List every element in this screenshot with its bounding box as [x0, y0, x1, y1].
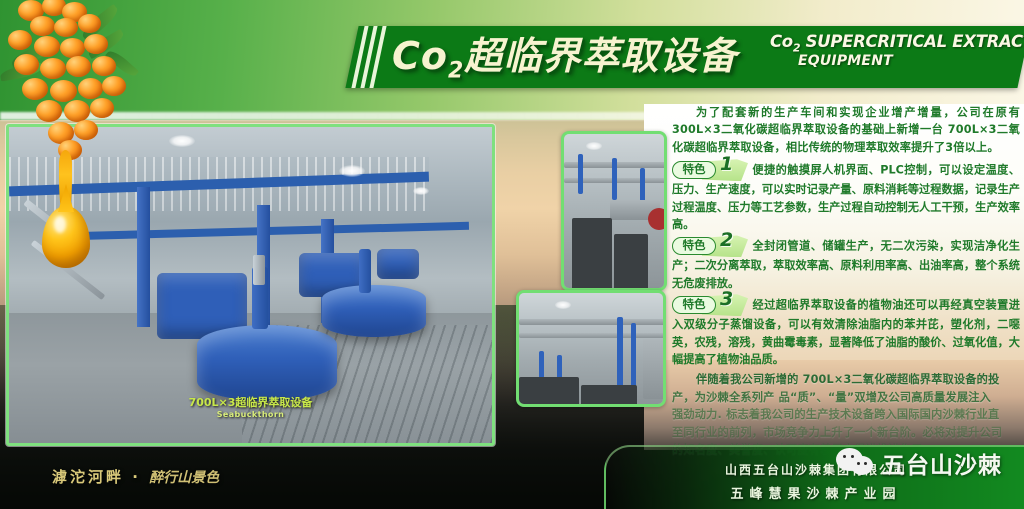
feature-badge-label-3: 特色	[672, 296, 716, 314]
title-en-main: SUPERCRITICAL EXTRACTION	[806, 32, 1024, 51]
text-column: 为了配套新的生产车间和实现企业增产增量，公司在原有300L×3二氧化碳超临界萃取…	[672, 104, 1020, 459]
feature-item-2: 特色 2 全封闭管道、储罐生产，无二次污染，实现洁净化生产；二次分离萃取，萃取效…	[672, 236, 1020, 292]
feature-badge-2: 特色 2	[672, 236, 748, 257]
closing-line-4: 至同行业的前列，市场竞争力上升了一个新台阶。必将对提升公司	[672, 424, 1020, 441]
title-co-subscript: 2	[448, 59, 464, 84]
slogan-calligraphy: 醉行山景色	[149, 470, 219, 486]
feature-number-1: 1	[720, 156, 733, 173]
seabuckthorn-berries-decoration	[0, 0, 160, 180]
feature-badge-3: 特色 3	[672, 295, 748, 316]
title-co-prefix: Co	[392, 34, 448, 78]
wechat-account-name: 五台山沙棘	[882, 446, 1002, 480]
wechat-icon	[836, 446, 876, 480]
poster-root: Co2超临界萃取设备 Co2 SUPERCRITICAL EXTRACTION …	[0, 0, 1024, 509]
closing-line-3: 强劲动力. 标志着我公司的生产技术设备跨入国际国内沙棘行业直	[672, 406, 1020, 423]
feature-number-2: 2	[720, 232, 733, 249]
page-title-chinese: Co2超临界萃取设备	[392, 30, 737, 98]
closing-line-2: 产，为沙棘全系列产 品“质”、“量”双增及公司高质量发展注入	[672, 389, 1020, 406]
slogan-separator: ·	[132, 468, 141, 486]
title-en-line1: Co2 SUPERCRITICAL EXTRACTION	[770, 34, 1020, 54]
photo-caption: 700L×3超临界萃取设备 Seabuckthorn	[189, 394, 313, 419]
feature-badge-label-1: 特色	[672, 161, 716, 179]
intro-paragraph: 为了配套新的生产车间和实现企业增产增量，公司在原有300L×3二氧化碳超临界萃取…	[672, 104, 1020, 156]
feature-badge-1: 特色 1	[672, 160, 748, 181]
photo-caption-line1: 700L×3超临界萃取设备	[189, 394, 313, 410]
equipment-photo-bottom	[516, 290, 666, 407]
title-chinese-text: 超临界萃取设备	[464, 34, 737, 78]
photo-caption-line2: Seabuckthorn	[189, 410, 313, 419]
feature-item-1: 特色 1 便捷的触摸屏人机界面、PLC控制，可以设定温度、压力、生产速度，可以实…	[672, 160, 1020, 233]
brand-park-name: 五峰慧果沙棘产业园	[616, 483, 1016, 502]
title-en-co: Co	[770, 32, 793, 51]
feature-badge-label-2: 特色	[672, 237, 716, 255]
slogan-text: 滹沱河畔	[52, 468, 124, 486]
page-title-english: Co2 SUPERCRITICAL EXTRACTION EQUIPMENT	[770, 34, 1020, 68]
feature-number-3: 3	[720, 291, 733, 308]
title-en-line2: EQUIPMENT	[798, 54, 1020, 68]
bottom-left-slogan: 滹沱河畔 · 醉行山景色	[52, 466, 219, 487]
wechat-watermark: 五台山沙棘	[836, 446, 1002, 480]
closing-line-1: 伴随着我公司新增的 700L×3二氧化碳超临界萃取设备的投	[672, 371, 1020, 388]
feature-item-3: 特色 3 经过超临界萃取设备的植物油还可以再经真空装置进入双级分子蒸馏设备，可以…	[672, 295, 1020, 368]
equipment-photo-top	[561, 131, 667, 291]
